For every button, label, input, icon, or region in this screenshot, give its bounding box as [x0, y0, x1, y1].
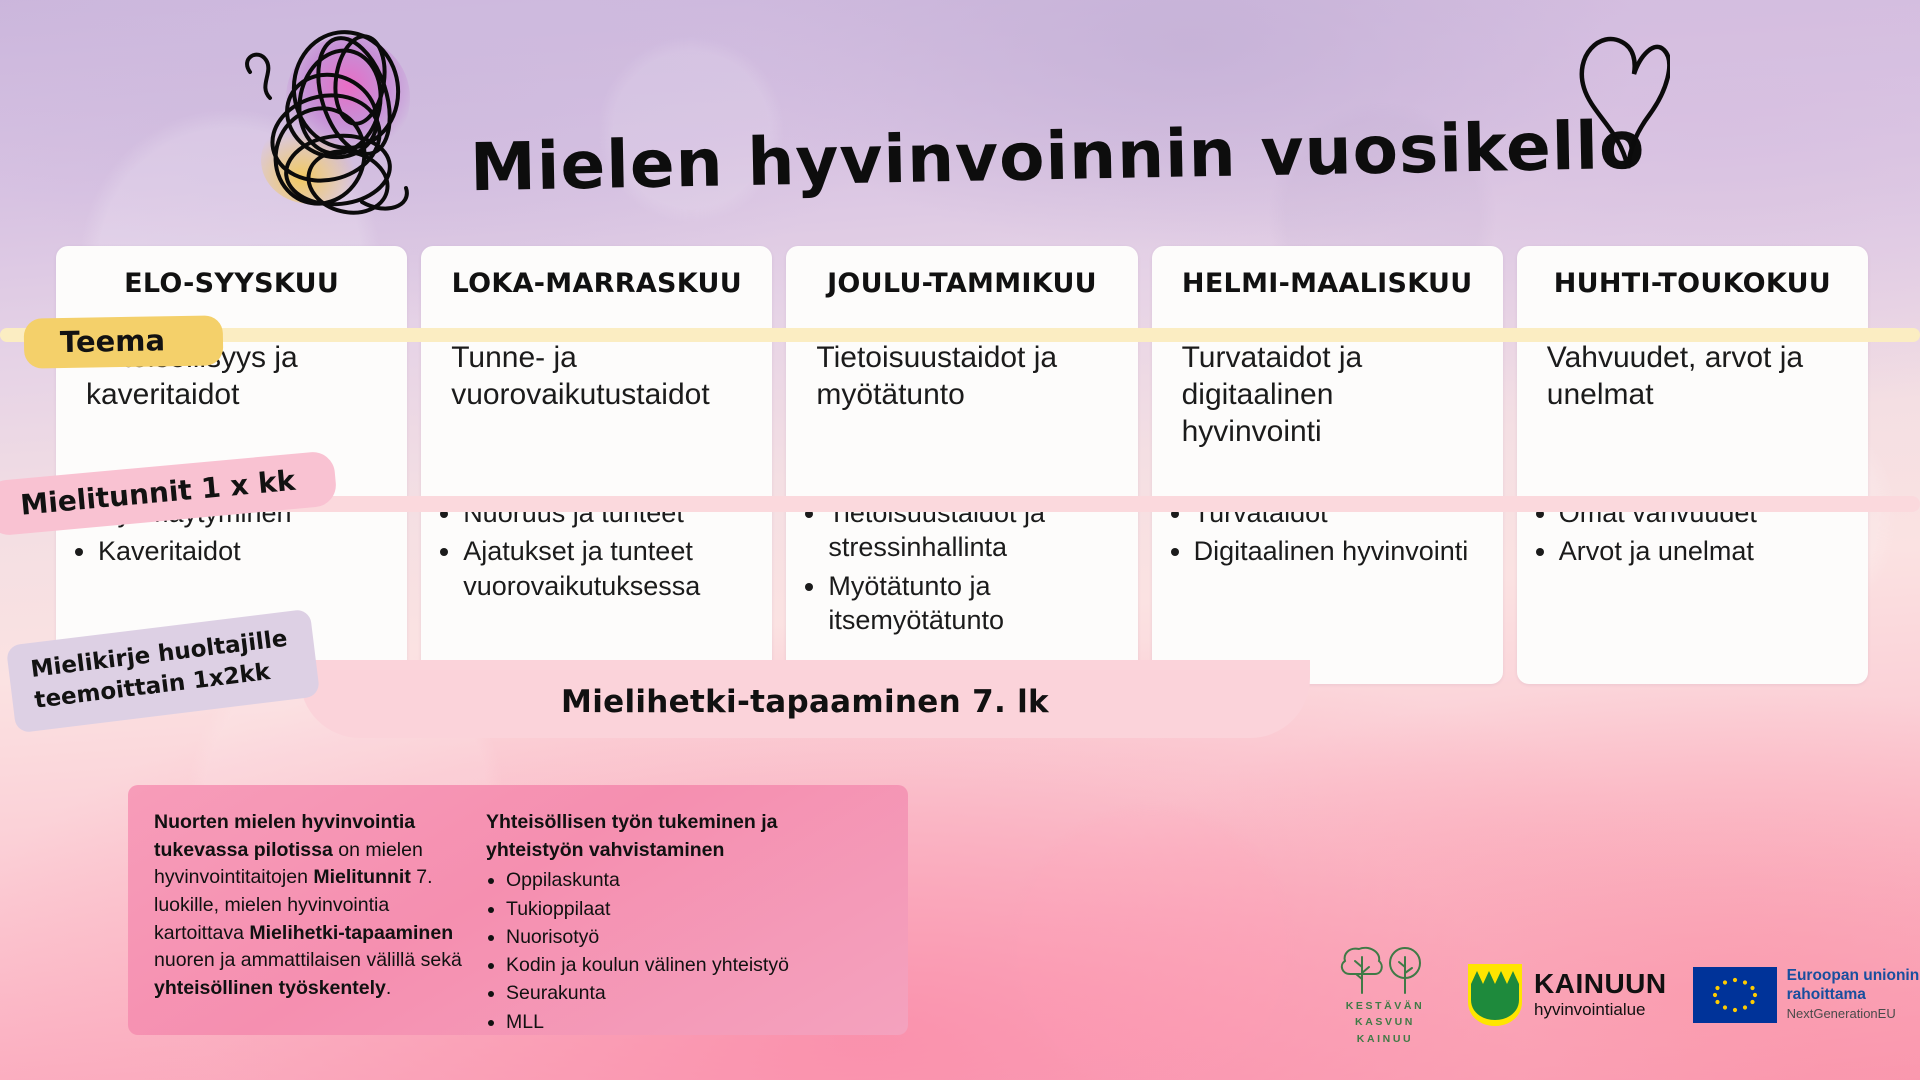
card-title: HUHTI-TOUKOKUU [1517, 246, 1868, 299]
list-item: Kodin ja koulun välinen yhteistyö [506, 951, 846, 979]
list-item: MLL [506, 1008, 846, 1036]
theme-badge: Teema [24, 315, 224, 368]
logo-row: KESTÄVÄN KASVUN KAINUU KAINUUN hyvinvoin… [1330, 940, 1919, 1050]
list-item: Digitaalinen hyvinvointi [1194, 534, 1485, 568]
card-topic-list: Nuoruus ja tunteet Ajatukset ja tunteet … [421, 496, 772, 607]
kestavan-kasvun-kainuu-logo: KESTÄVÄN KASVUN KAINUU [1330, 943, 1440, 1047]
eu-line1: Euroopan unionin [1787, 967, 1920, 986]
list-item: Seurakunta [506, 979, 846, 1007]
info-box: Nuorten mielen hyvinvointia tukevassa pi… [128, 785, 908, 1035]
kainuu-shield-icon [1466, 962, 1524, 1028]
kainuu-word: KAINUUN [1534, 970, 1667, 998]
two-trees-icon [1335, 943, 1435, 995]
list-item: Nuorisotyö [506, 923, 846, 951]
month-card[interactable]: LOKA-MARRASKUU Tunne- ja vuorovaikutusta… [421, 246, 772, 684]
info-right-heading: Yhteisöllisen työn tukeminen ja yhteisty… [486, 811, 777, 861]
heart-outline-icon [1570, 22, 1670, 172]
list-item: Oppilaskunta [506, 866, 846, 894]
card-title: LOKA-MARRASKUU [421, 246, 772, 299]
card-title: JOULU-TAMMIKUU [786, 246, 1137, 299]
card-title: ELO-SYYSKUU [56, 246, 407, 299]
kainuun-hyvinvointialue-logo: KAINUUN hyvinvointialue [1466, 962, 1667, 1028]
meeting-label: Mielihetki-tapaaminen 7. lk [300, 684, 1310, 720]
header: Mielen hyvinvoinnin vuosikello [0, 0, 1920, 245]
eu-wordmark: Euroopan unionin rahoittama NextGenerati… [1787, 967, 1920, 1023]
list-item: Myötätunto ja itsemyötätunto [828, 569, 1119, 638]
kk-line1: KESTÄVÄN [1346, 998, 1425, 1014]
list-item: Ajatukset ja tunteet vuorovaikutuksessa [463, 534, 754, 603]
page-title: Mielen hyvinvoinnin vuosikello [469, 107, 1646, 207]
kk-line3: KAINUU [1346, 1031, 1425, 1047]
eu-flag-icon [1693, 967, 1777, 1023]
info-b2: Mielitunnit [313, 866, 410, 888]
info-b3: Mielihetki-tapaaminen [249, 922, 453, 944]
card-topic-list: Tietoisuustaidot ja stressinhallinta Myö… [786, 496, 1137, 641]
kainuu-sub: hyvinvointialue [1534, 1000, 1667, 1020]
info-box-right-column: Yhteisöllisen työn tukeminen ja yhteisty… [486, 809, 846, 1035]
card-theme: Tietoisuustaidot ja myötätunto [786, 299, 1137, 413]
info-right-list: Oppilaskunta Tukioppilaat Nuorisotyö Kod… [506, 866, 846, 1036]
info-b4: yhteisöllinen työskentely [154, 977, 386, 999]
list-item: Kaveritaidot [98, 534, 389, 568]
month-card[interactable]: JOULU-TAMMIKUU Tietoisuustaidot ja myötä… [786, 246, 1137, 684]
kk-line2: KASVUN [1346, 1014, 1425, 1030]
month-card[interactable]: HUHTI-TOUKOKUU Vahvuudet, arvot ja unelm… [1517, 246, 1868, 684]
theme-band [0, 328, 1920, 342]
eu-line2: rahoittama [1787, 986, 1920, 1005]
info-t4: . [386, 977, 391, 999]
eu-line3: NextGenerationEU [1787, 1006, 1920, 1023]
info-t3: nuoren ja ammattilaisen välillä sekä [154, 949, 462, 971]
card-theme: Turvataidot ja digitaalinen hyvinvointi [1152, 299, 1503, 451]
kainuu-wordmark: KAINUUN hyvinvointialue [1534, 970, 1667, 1020]
letter-badge: Mielikirje huoltajille teemoittain 1x2kk [6, 609, 321, 734]
scribble-doodle-icon [236, 20, 466, 220]
kestavan-kasvun-kainuu-text: KESTÄVÄN KASVUN KAINUU [1346, 998, 1425, 1047]
eu-funding-logo: Euroopan unionin rahoittama NextGenerati… [1693, 967, 1920, 1023]
list-item: Arvot ja unelmat [1559, 534, 1850, 568]
month-card[interactable]: HELMI-MAALISKUU Turvataidot ja digitaali… [1152, 246, 1503, 684]
list-item: Tukioppilaat [506, 895, 846, 923]
info-box-left-column: Nuorten mielen hyvinvointia tukevassa pi… [154, 809, 462, 1035]
card-title: HELMI-MAALISKUU [1152, 246, 1503, 299]
card-theme: Vahvuudet, arvot ja unelmat [1517, 299, 1868, 413]
card-theme: Tunne- ja vuorovaikutustaidot [421, 299, 772, 413]
